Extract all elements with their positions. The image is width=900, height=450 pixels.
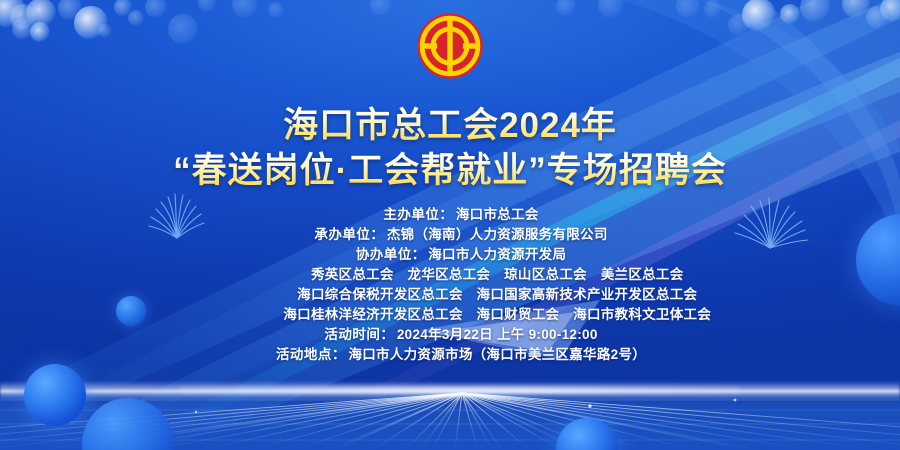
glow-sphere-bottom-center [556, 418, 618, 450]
info-value: 2024年3月22日 上午 9:00-12:00 [397, 325, 598, 345]
title-line-2: “春送岗位·工会帮就业”专场招聘会 [0, 148, 900, 193]
horizon-core-glow [180, 386, 740, 394]
bokeh-circle [114, 0, 132, 16]
info-label: 活动时间 [302, 325, 380, 345]
bokeh-circle [12, 18, 34, 40]
bokeh-circle [58, 0, 82, 20]
info-label: 活动地点 [254, 345, 332, 365]
info-value: 杰锦（海南）人力资源服务有限公司 [387, 225, 608, 245]
bokeh-circle [880, 0, 900, 22]
info-row: 活动时间 ： 2024年3月22日 上午 9:00-12:00 [0, 325, 900, 345]
info-colon: ： [439, 205, 456, 225]
info-row: 协办单位 ： 秀英区总工会 龙华区总工会 琼山区总工会 美兰区总工会 [0, 265, 900, 285]
info-row: 主办单位 ： 海口市总工会 [0, 205, 900, 225]
bokeh-circle [128, 10, 144, 26]
horizon-glow [0, 381, 900, 401]
info-colon: ： [332, 345, 349, 365]
info-row: 协办单位 ： 海口综合保税开发区总工会 海口国家高新技术产业开发区总工会 [0, 285, 900, 305]
chinese-trade-union-emblem [416, 12, 484, 80]
poster-info-block: 主办单位 ： 海口市总工会 承办单位 ： 杰锦（海南）人力资源服务有限公司 协办… [0, 205, 900, 365]
bokeh-circle [800, 0, 830, 22]
bokeh-circle [26, 0, 56, 28]
info-row: 协办单位 ： 海口桂林洋经济开发区总工会 海口财贸工会 海口市教科文卫体工会 [0, 305, 900, 325]
bokeh-circle [268, 2, 284, 18]
bokeh-circle [780, 4, 800, 24]
info-value: 海口综合保税开发区总工会 海口国家高新技术产业开发区总工会 [297, 285, 697, 305]
info-label: 协办单位 [334, 245, 412, 265]
info-colon: ： [370, 225, 387, 245]
info-value: 海口市人力资源开发局 [428, 245, 566, 265]
glow-sphere-left [24, 364, 86, 426]
info-row: 协办单位 ： 海口市人力资源开发局 [0, 245, 900, 265]
bokeh-circle [10, 4, 36, 30]
info-value: 海口市人力资源市场（海口市美兰区嘉华路2号） [348, 345, 646, 365]
info-colon: ： [380, 325, 397, 345]
info-colon: ： [412, 245, 429, 265]
bokeh-circle [198, 0, 216, 12]
bokeh-circle [598, 0, 624, 18]
bokeh-circle [145, 0, 167, 18]
info-label: 承办单位 [292, 225, 370, 245]
bokeh-circle [168, 14, 198, 44]
bokeh-circle [370, 0, 392, 16]
bokeh-circle [704, 0, 722, 18]
bokeh-circle [30, 22, 50, 42]
bokeh-circle [742, 0, 776, 32]
title-line-1: 海口市总工会2024年 [0, 103, 900, 148]
bokeh-circle [728, 14, 750, 36]
recruitment-poster: 海口市总工会2024年 “春送岗位·工会帮就业”专场招聘会 主办单位 ： 海口市… [0, 0, 900, 450]
bokeh-circle [232, 0, 258, 18]
info-row: 承办单位 ： 杰锦（海南）人力资源服务有限公司 [0, 225, 900, 245]
info-value: 秀英区总工会 龙华区总工会 琼山区总工会 美兰区总工会 [311, 265, 684, 285]
info-value: 海口桂林洋经济开发区总工会 海口财贸工会 海口市教科文卫体工会 [283, 305, 711, 325]
bokeh-circle [98, 24, 112, 38]
bokeh-circle [842, 0, 870, 18]
info-label: 主办单位 [361, 205, 439, 225]
bokeh-circle [866, 6, 888, 28]
bokeh-circle [0, 0, 26, 28]
bokeh-circle [556, 0, 576, 16]
bokeh-circle [74, 6, 108, 40]
poster-title: 海口市总工会2024年 “春送岗位·工会帮就业”专场招聘会 [0, 103, 900, 193]
bokeh-circle [676, 0, 700, 18]
glow-sphere-small-left-low [82, 398, 174, 450]
info-value: 海口市总工会 [456, 205, 539, 225]
info-row: 活动地点 ： 海口市人力资源市场（海口市美兰区嘉华路2号） [0, 345, 900, 365]
